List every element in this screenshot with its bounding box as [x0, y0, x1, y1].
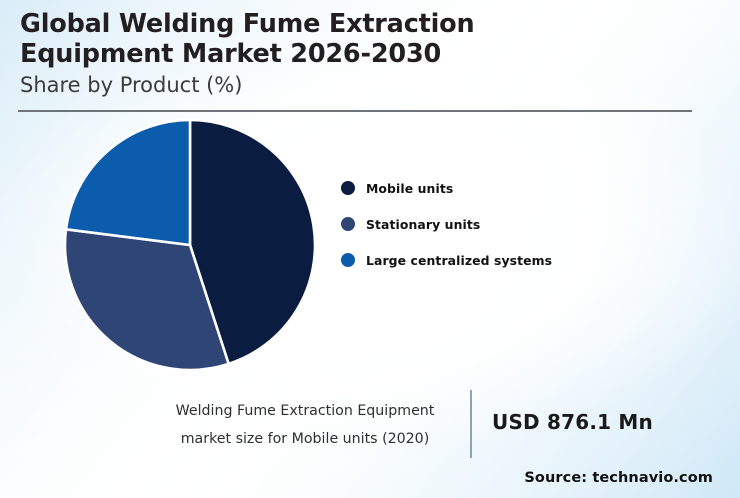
page-subtitle: Share by Product (%): [20, 73, 710, 98]
pie-slice[interactable]: [66, 120, 190, 245]
market-size-value: USD 876.1 Mn: [492, 410, 653, 434]
legend-item-mobile-units[interactable]: Mobile units: [341, 170, 621, 206]
legend-label: Mobile units: [366, 181, 453, 196]
pie-chart: [63, 118, 317, 372]
footer-caption: Welding Fume Extraction Equipment market…: [150, 397, 460, 454]
chart-header: Global Welding Fume Extraction Equipment…: [20, 10, 710, 98]
infographic-canvas: Global Welding Fume Extraction Equipment…: [0, 0, 740, 498]
legend-label: Large centralized systems: [366, 253, 552, 268]
legend-item-large-centralized-systems[interactable]: Large centralized systems: [341, 242, 621, 278]
legend-label: Stationary units: [366, 217, 480, 232]
legend-item-stationary-units[interactable]: Stationary units: [341, 206, 621, 242]
page-title: Global Welding Fume Extraction Equipment…: [20, 10, 550, 70]
source-attribution: Source: technavio.com: [524, 470, 713, 486]
header-divider-rule: [18, 110, 692, 112]
pie-chart-svg: [63, 118, 317, 372]
chart-footer: Welding Fume Extraction Equipment market…: [0, 385, 740, 498]
circle-marker-icon: [341, 253, 355, 267]
footer-vertical-divider: [470, 390, 472, 458]
circle-marker-icon: [341, 181, 355, 195]
circle-marker-icon: [341, 217, 355, 231]
chart-legend: Mobile units Stationary units Large cent…: [341, 170, 621, 278]
